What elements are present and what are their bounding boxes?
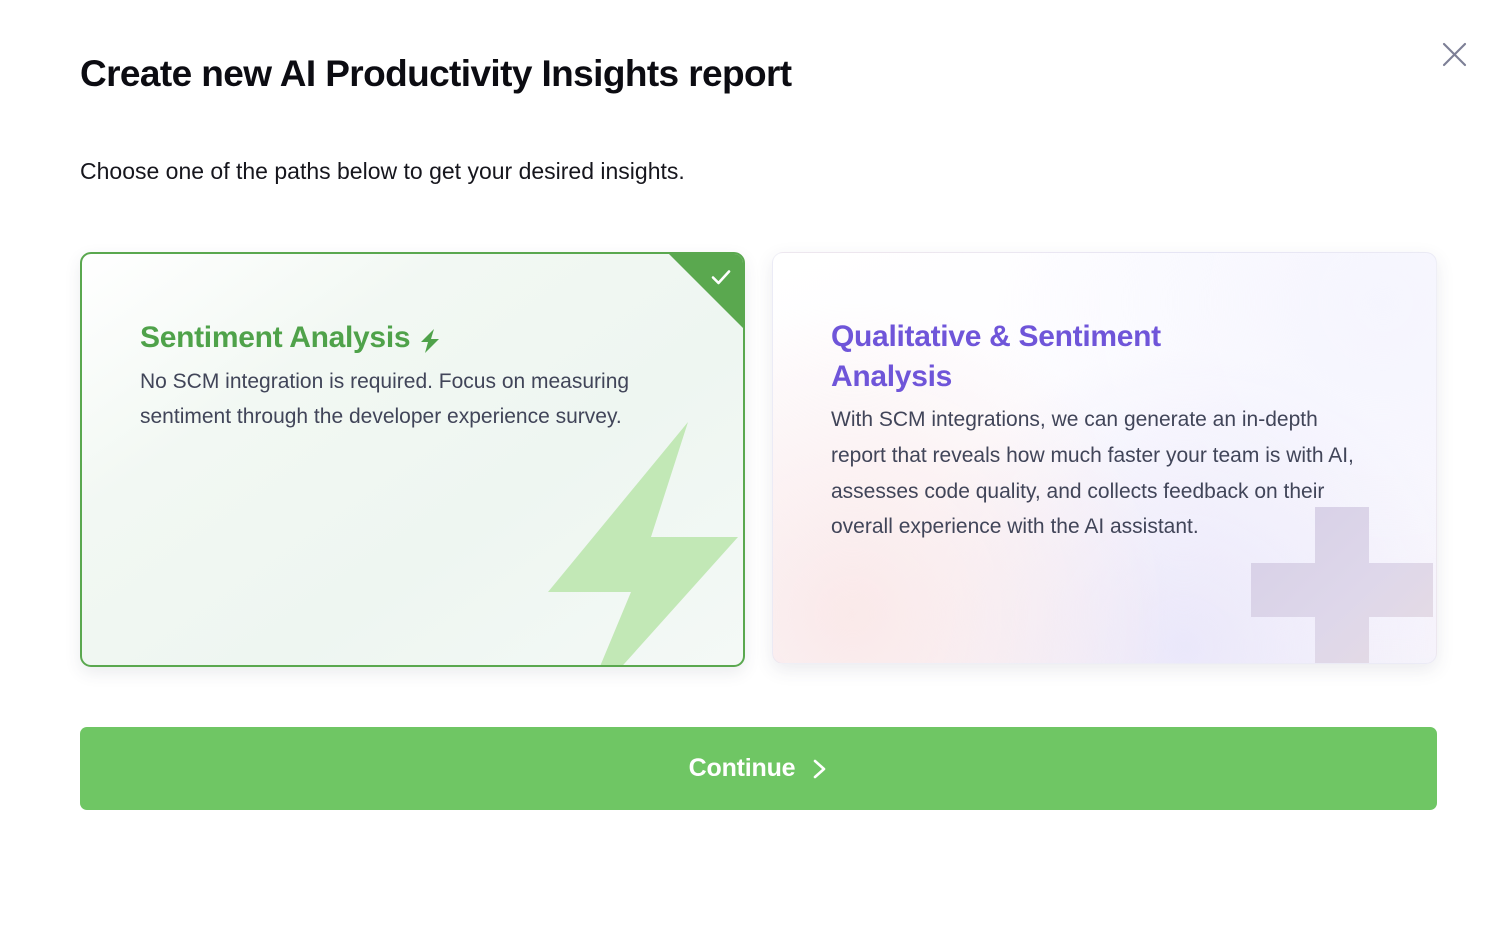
continue-button-label: Continue <box>689 754 796 783</box>
close-icon-glyph <box>1441 41 1468 68</box>
card-sentiment-analysis[interactable]: Sentiment Analysis No SCM integration is… <box>80 252 745 667</box>
card-title-sentiment: Sentiment Analysis <box>140 318 410 358</box>
path-options: Sentiment Analysis No SCM integration is… <box>80 252 1437 672</box>
bolt-watermark-icon <box>523 417 745 667</box>
card-description-sentiment: No SCM integration is required. Focus on… <box>140 364 650 435</box>
continue-button[interactable]: Continue <box>80 727 1437 810</box>
bolt-icon <box>419 328 441 354</box>
card-qualitative-sentiment-analysis[interactable]: Qualitative & Sentiment Analysis With SC… <box>772 252 1437 664</box>
close-icon[interactable] <box>1436 36 1472 72</box>
card-description-qualitative: With SCM integrations, we can generate a… <box>831 402 1371 545</box>
page-subtitle: Choose one of the paths below to get you… <box>80 157 685 187</box>
chevron-right-icon <box>812 757 828 781</box>
create-report-dialog: Create new AI Productivity Insights repo… <box>0 0 1512 936</box>
page-title: Create new AI Productivity Insights repo… <box>80 52 792 96</box>
card-title-qualitative: Qualitative & Sentiment Analysis <box>831 317 1261 396</box>
